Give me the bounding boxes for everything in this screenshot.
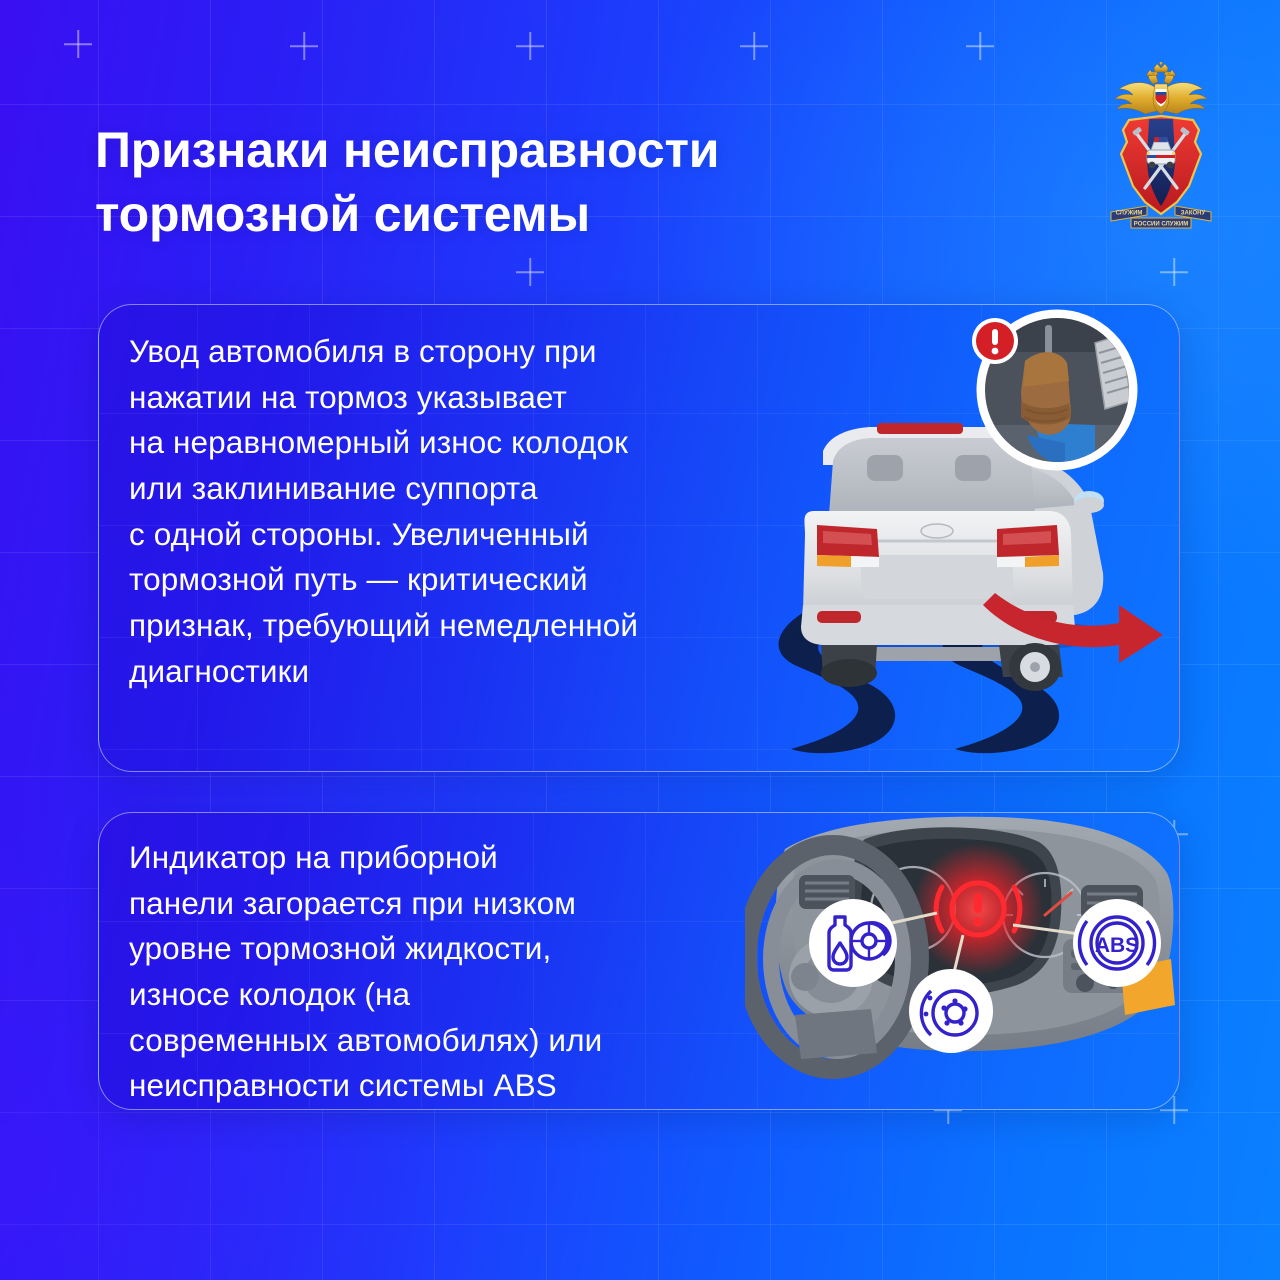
abs-system-icon: ABS: [1073, 899, 1161, 987]
text-line: неисправности системы ABS: [129, 1063, 749, 1109]
text-line: нажатии на тормоз указывает: [129, 375, 799, 421]
svg-text:ЗАКОНУ: ЗАКОНУ: [1181, 210, 1206, 216]
text-line: панели загорается при низком: [129, 881, 749, 927]
text-line: Увод автомобиля в сторону при: [129, 329, 799, 375]
page-title-line-2: тормозной системы: [95, 182, 995, 246]
taillight-left: [817, 525, 879, 567]
warning-exclamation-icon: [972, 318, 1018, 364]
brake-fluid-bottle-icon: [809, 899, 897, 987]
card-dashboard-indicator: Индикатор на приборной панели загорается…: [98, 812, 1180, 1110]
text-line: на неравномерный износ колодок: [129, 420, 799, 466]
decorative-cross-icon: [290, 32, 318, 60]
page-title-line-1: Признаки неисправности: [95, 118, 995, 182]
text-line: уровне тормозной жидкости,: [129, 926, 749, 972]
text-line: тормозной путь — критический: [129, 557, 799, 603]
decorative-cross-icon: [740, 32, 768, 60]
text-line: современных автомобилях) или: [129, 1018, 749, 1064]
dashboard-illustration: ABS: [745, 812, 1180, 1109]
page-title: Признаки неисправности тормозной системы: [95, 118, 995, 246]
car-rear-veering-illustration: [759, 305, 1179, 771]
text-line: диагностики: [129, 649, 799, 695]
decorative-cross-icon: [516, 258, 544, 286]
text-line: износе колодок (на: [129, 972, 749, 1018]
card-brake-pull: Увод автомобиля в сторону при нажатии на…: [98, 304, 1180, 772]
worn-brake-disc-icon: [909, 969, 993, 1053]
decorative-cross-icon: [516, 32, 544, 60]
abs-label: ABS: [1095, 934, 1139, 957]
text-line: или заклинивание суппорта: [129, 466, 799, 512]
svg-text:СЛУЖИМ: СЛУЖИМ: [1116, 210, 1143, 216]
decorative-cross-icon: [64, 30, 92, 58]
svg-text:РОССИИ СЛУЖИМ: РОССИИ СЛУЖИМ: [1134, 222, 1188, 228]
text-line: с одной стороны. Увеличенный: [129, 512, 799, 558]
card-dashboard-indicator-text: Индикатор на приборной панели загорается…: [129, 835, 749, 1109]
taillight-right: [997, 525, 1059, 567]
decorative-cross-icon: [966, 32, 994, 60]
text-line: признак, требующий немедленной: [129, 603, 799, 649]
russian-police-gibdd-emblem: СЛУЖИМ ЗАКОНУ РОССИИ СЛУЖИМ: [1097, 62, 1225, 232]
text-line: Индикатор на приборной: [129, 835, 749, 881]
card-brake-pull-text: Увод автомобиля в сторону при нажатии на…: [129, 329, 799, 694]
brake-warning-lamp-icon: [912, 843, 1044, 975]
decorative-cross-icon: [1160, 258, 1188, 286]
